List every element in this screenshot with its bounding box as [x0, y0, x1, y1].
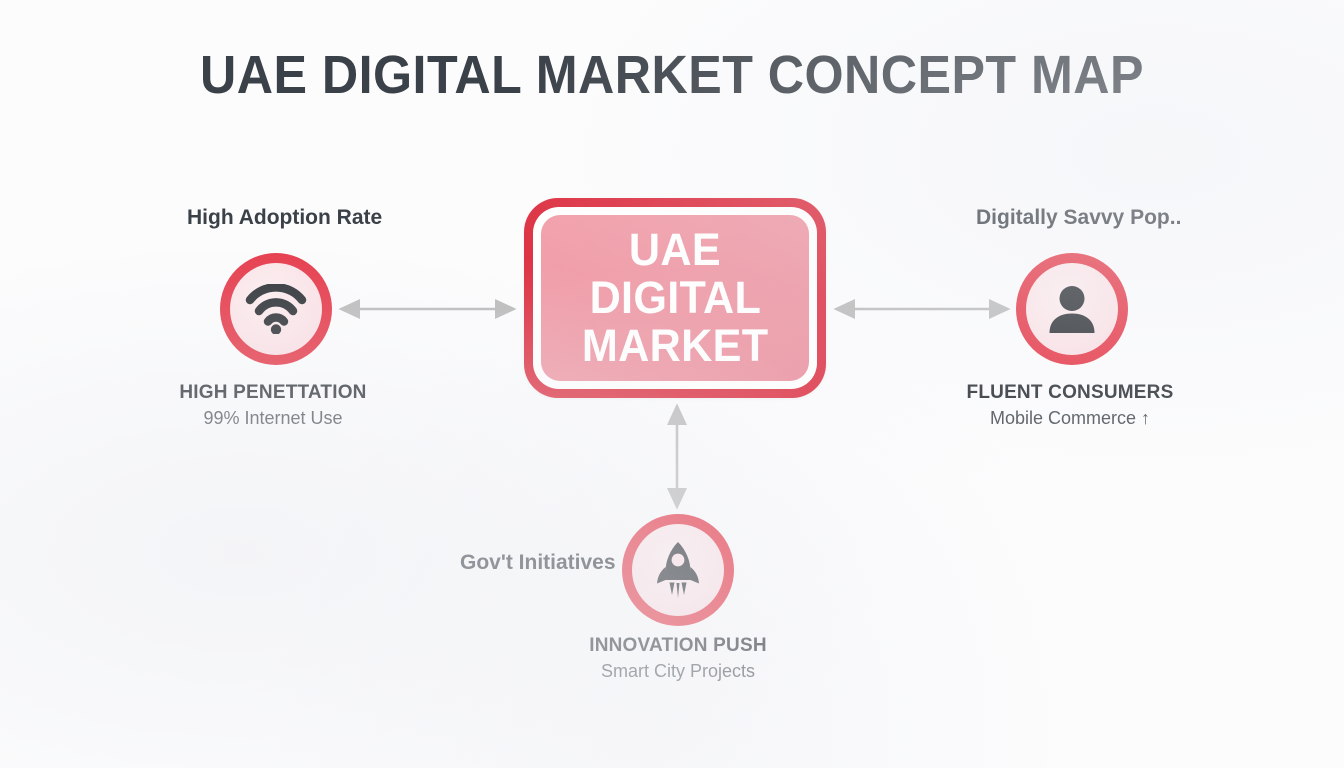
concept-map-canvas: UAE DIGITAL MARKET CONCEPT MAP UAE DIGIT…	[0, 0, 1344, 768]
central-node-inner-ring: UAE DIGITAL MARKET	[533, 207, 817, 389]
node-circle-body-innovation	[632, 524, 724, 616]
page-title: UAE DIGITAL MARKET CONCEPT MAP	[47, 44, 1297, 106]
node-caption-innovation: INNOVATION PUSH Smart City Projects	[521, 634, 835, 684]
central-node[interactable]: UAE DIGITAL MARKET	[524, 198, 826, 398]
central-node-body: UAE DIGITAL MARKET	[541, 215, 809, 381]
central-node-line-3: MARKET	[582, 322, 769, 370]
person-icon	[1044, 281, 1100, 337]
node-caption-penetration: HIGH PENETTATION 99% Internet Use	[116, 381, 430, 431]
caption-sub-innovation: Smart City Projects	[521, 658, 835, 684]
node-circle-innovation[interactable]	[622, 514, 734, 626]
node-caption-consumers: FLUENT CONSUMERS Mobile Commerce ↑	[913, 381, 1227, 431]
wifi-icon	[245, 284, 307, 334]
central-node-line-1: UAE	[629, 226, 721, 274]
node-top-label-consumers: Digitally Savvy Pop..	[976, 206, 1181, 230]
caption-sub-consumers: Mobile Commerce ↑	[913, 405, 1227, 431]
node-circle-body-penetration	[230, 263, 322, 355]
caption-title-consumers: FLUENT CONSUMERS	[913, 381, 1227, 405]
caption-title-innovation: INNOVATION PUSH	[521, 634, 835, 658]
node-circle-consumers[interactable]	[1016, 253, 1128, 365]
node-top-label-penetration: High Adoption Rate	[187, 206, 382, 230]
caption-sub-penetration: 99% Internet Use	[116, 405, 430, 431]
caption-title-penetration: HIGH PENETTATION	[116, 381, 430, 405]
rocket-icon	[652, 540, 704, 600]
node-circle-penetration[interactable]	[220, 253, 332, 365]
central-node-line-2: DIGITAL	[589, 274, 761, 322]
node-top-label-innovation: Gov't Initiatives	[460, 551, 616, 575]
node-circle-body-consumers	[1026, 263, 1118, 355]
